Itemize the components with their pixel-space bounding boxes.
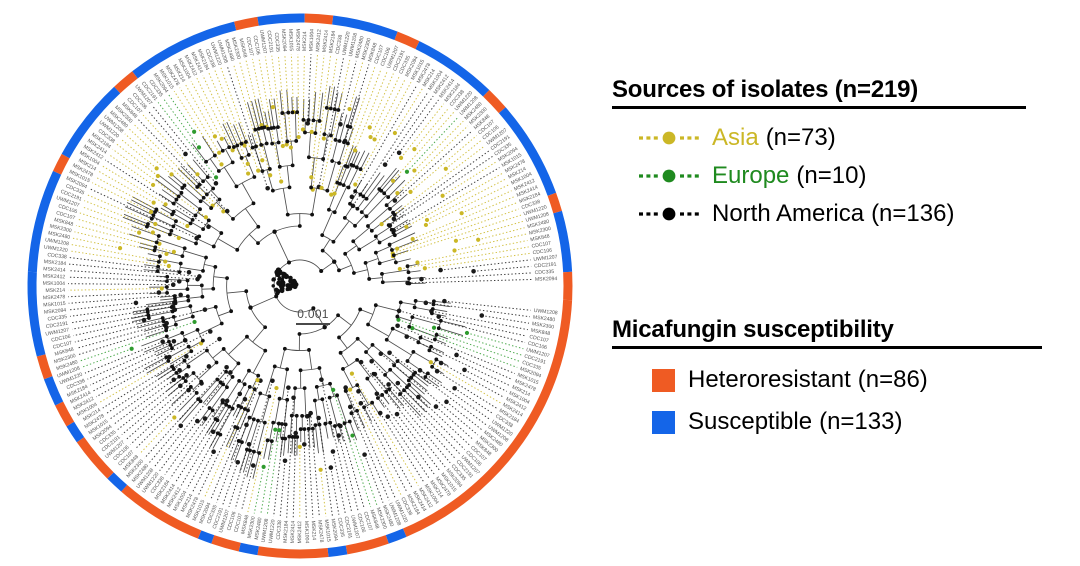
tip-leader-line bbox=[280, 461, 285, 517]
tree-branch bbox=[206, 384, 223, 405]
tip-node-north_america bbox=[435, 369, 440, 374]
internal-node bbox=[236, 361, 240, 365]
internal-node bbox=[170, 346, 174, 350]
tip-leader-line bbox=[143, 115, 197, 174]
internal-node bbox=[168, 232, 172, 236]
tip-node-asia bbox=[353, 182, 357, 186]
internal-node bbox=[258, 392, 262, 396]
internal-node bbox=[194, 242, 198, 246]
tip-node-north_america bbox=[251, 463, 256, 468]
tip-node-asia bbox=[217, 151, 221, 155]
tree-branch bbox=[380, 234, 395, 242]
internal-node bbox=[231, 407, 235, 411]
internal-node bbox=[247, 369, 251, 373]
tip-node-north_america bbox=[378, 411, 383, 416]
tree-branch bbox=[309, 157, 323, 159]
tree-branch bbox=[236, 146, 241, 158]
tree-branch bbox=[149, 221, 171, 231]
tip-node-north_america bbox=[379, 351, 384, 356]
tip-node-asia bbox=[163, 259, 167, 263]
internal-node bbox=[284, 423, 288, 427]
legend-susceptibility-label: Susceptible bbox=[688, 407, 812, 437]
tip-label: MSK2094 bbox=[535, 276, 558, 283]
internal-node bbox=[341, 367, 345, 371]
tip-leader-line bbox=[411, 136, 477, 192]
internal-node bbox=[272, 229, 276, 233]
tip-node-north_america bbox=[211, 429, 216, 434]
internal-node bbox=[323, 422, 327, 426]
legend-susceptibility-underline bbox=[612, 346, 1042, 349]
tree-branch bbox=[433, 309, 447, 312]
tree-branch bbox=[339, 309, 360, 337]
tip-node-asia bbox=[350, 372, 354, 376]
tip-leader-line bbox=[93, 332, 210, 391]
tree-branch bbox=[158, 239, 185, 248]
scale-bar: 0.001 bbox=[296, 308, 330, 325]
internal-node bbox=[265, 142, 269, 146]
tree-branch bbox=[175, 301, 188, 303]
tip-leader-line bbox=[99, 343, 201, 402]
tip-node-north_america bbox=[387, 350, 392, 355]
tip-node-north_america bbox=[393, 198, 398, 203]
internal-node bbox=[274, 270, 279, 275]
tree-branch bbox=[231, 441, 239, 460]
ring-segment-susceptible bbox=[333, 20, 396, 36]
internal-node bbox=[355, 383, 359, 387]
internal-node bbox=[211, 187, 215, 191]
tip-node-north_america bbox=[247, 442, 252, 447]
internal-node bbox=[170, 305, 174, 309]
tree-branch bbox=[227, 278, 231, 311]
tip-leader-line bbox=[114, 380, 174, 425]
internal-node bbox=[429, 345, 433, 349]
tip-leader-line bbox=[446, 141, 481, 169]
tip-leader-line bbox=[68, 289, 162, 291]
internal-node bbox=[419, 336, 423, 340]
internal-node bbox=[277, 422, 281, 426]
figure-root: UWM1208MSK2480MSK2300MSK848CDC107CDC106U… bbox=[0, 0, 1080, 566]
internal-node bbox=[407, 270, 411, 274]
tree-branch bbox=[198, 239, 214, 246]
tip-node-north_america bbox=[454, 353, 459, 358]
internal-node bbox=[187, 345, 191, 349]
internal-node bbox=[336, 313, 340, 317]
internal-node bbox=[410, 315, 414, 319]
tip-node-asia bbox=[393, 131, 397, 135]
tip-node-north_america bbox=[356, 389, 361, 394]
internal-node bbox=[156, 265, 160, 269]
internal-node bbox=[427, 348, 431, 352]
internal-node bbox=[392, 363, 396, 367]
tree-branch bbox=[309, 99, 310, 120]
internal-node bbox=[178, 270, 182, 274]
tip-leader-line bbox=[211, 381, 261, 500]
internal-node bbox=[366, 224, 370, 228]
tree-branch bbox=[396, 259, 411, 263]
tip-node-north_america bbox=[244, 423, 249, 428]
tree-branch bbox=[270, 423, 274, 441]
tree-branch bbox=[383, 281, 409, 282]
internal-node bbox=[311, 427, 315, 431]
internal-node bbox=[299, 368, 303, 372]
tip-node-north_america bbox=[404, 334, 409, 339]
tip-node-asia bbox=[319, 186, 323, 190]
internal-node bbox=[256, 225, 260, 229]
tip-node-north_america bbox=[350, 195, 355, 200]
tip-node-north_america bbox=[225, 399, 230, 404]
tree-branch bbox=[275, 399, 279, 423]
internal-node bbox=[172, 315, 176, 319]
internal-node bbox=[439, 319, 443, 323]
tree-branch bbox=[240, 450, 247, 472]
internal-node bbox=[384, 390, 388, 394]
tree-branch bbox=[309, 350, 312, 370]
tip-leader-line bbox=[72, 310, 175, 329]
internal-node bbox=[298, 332, 302, 336]
tree-branch bbox=[355, 215, 365, 226]
tip-node-asia bbox=[347, 107, 351, 111]
internal-node bbox=[329, 134, 333, 138]
tree-branch bbox=[398, 361, 415, 374]
legend-sources-title: Sources of isolates (n=219) bbox=[612, 76, 1064, 104]
tip-leader-line bbox=[427, 179, 506, 220]
tip-node-europe bbox=[130, 347, 134, 351]
tip-node-north_america bbox=[178, 384, 183, 389]
tip-node-north_america bbox=[184, 373, 189, 378]
internal-node bbox=[315, 385, 319, 389]
internal-node bbox=[267, 394, 271, 398]
internal-node bbox=[337, 423, 341, 427]
internal-node bbox=[186, 294, 190, 298]
tip-node-asia bbox=[220, 137, 224, 141]
tip-node-asia bbox=[118, 246, 122, 250]
tree-branch bbox=[291, 141, 292, 165]
tip-node-asia bbox=[160, 286, 164, 290]
internal-node bbox=[222, 347, 226, 351]
tip-node-asia bbox=[297, 135, 301, 139]
internal-node bbox=[199, 380, 203, 384]
tip-leader-line bbox=[121, 139, 157, 169]
internal-node bbox=[200, 295, 204, 299]
tree-branch bbox=[421, 338, 433, 343]
tip-node-asia bbox=[395, 247, 399, 251]
tree-nodes-layer bbox=[118, 105, 484, 472]
tip-node-north_america bbox=[183, 152, 188, 157]
internal-node bbox=[426, 371, 430, 375]
tree-branch bbox=[188, 297, 202, 299]
internal-node bbox=[388, 368, 392, 372]
internal-node bbox=[314, 423, 318, 427]
tip-leader-line bbox=[399, 311, 525, 343]
internal-node bbox=[437, 326, 441, 330]
tip-leader-line bbox=[417, 240, 527, 262]
tree-branch bbox=[233, 203, 254, 219]
tree-branch bbox=[218, 239, 237, 250]
tip-node-asia bbox=[391, 179, 395, 183]
tip-leader-line bbox=[370, 74, 394, 128]
tree-branch bbox=[268, 441, 271, 460]
internal-node bbox=[270, 439, 274, 443]
internal-node bbox=[266, 127, 270, 131]
tip-leader-line bbox=[426, 185, 509, 225]
legend-panel: Sources of isolates (n=219) Asia(n=73)Eu… bbox=[612, 0, 1080, 566]
internal-node bbox=[374, 251, 378, 255]
internal-node bbox=[244, 289, 248, 293]
tip-node-north_america bbox=[395, 323, 400, 328]
tree-branch bbox=[439, 328, 463, 335]
tip-node-north_america bbox=[383, 162, 388, 167]
internal-node bbox=[154, 208, 158, 212]
internal-node bbox=[219, 231, 223, 235]
internal-node bbox=[252, 175, 256, 179]
tip-node-north_america bbox=[207, 364, 212, 369]
tip-leader-line bbox=[401, 104, 444, 158]
internal-node bbox=[280, 111, 284, 115]
tip-node-asia bbox=[221, 209, 225, 213]
tip-node-north_america bbox=[157, 290, 162, 295]
tree-branch bbox=[366, 259, 379, 263]
tip-node-north_america bbox=[452, 386, 457, 391]
tree-branch bbox=[337, 395, 346, 422]
internal-node bbox=[348, 202, 352, 206]
internal-node bbox=[298, 224, 302, 228]
tip-leader-line bbox=[254, 467, 263, 514]
phylogenetic-tree-panel: UWM1208MSK2480MSK2300MSK848CDC107CDC106U… bbox=[0, 0, 600, 566]
tree-branch bbox=[343, 360, 357, 369]
tip-node-asia bbox=[268, 173, 272, 177]
tip-node-europe bbox=[465, 331, 469, 335]
internal-node bbox=[174, 371, 178, 375]
internal-node bbox=[388, 243, 392, 247]
internal-node bbox=[322, 132, 326, 136]
tree-branch bbox=[292, 437, 293, 454]
internal-node bbox=[407, 277, 411, 281]
tip-node-asia bbox=[172, 415, 176, 419]
tip-leader-line bbox=[331, 468, 339, 515]
tree-branch bbox=[394, 365, 410, 379]
tip-node-north_america bbox=[375, 391, 380, 396]
tree-branch bbox=[368, 208, 389, 226]
tree-branch bbox=[276, 424, 279, 442]
tip-leader-line bbox=[223, 462, 238, 504]
tree-branch bbox=[331, 110, 336, 136]
ring-segment-susceptible bbox=[558, 212, 568, 272]
internal-node bbox=[247, 153, 251, 157]
tree-branch bbox=[144, 265, 158, 267]
tip-node-north_america bbox=[442, 299, 447, 304]
tree-branch bbox=[273, 187, 290, 190]
internal-node bbox=[394, 261, 398, 265]
internal-node bbox=[348, 420, 352, 424]
tip-node-north_america bbox=[283, 458, 288, 463]
tree-branch bbox=[262, 396, 269, 422]
tip-leader-line bbox=[457, 355, 513, 380]
internal-node bbox=[225, 276, 229, 280]
internal-node bbox=[388, 207, 392, 211]
internal-node bbox=[272, 277, 276, 281]
internal-node bbox=[186, 287, 190, 291]
tree-branch bbox=[317, 387, 319, 400]
tip-node-asia bbox=[310, 130, 314, 134]
internal-node bbox=[240, 156, 244, 160]
tree-branch bbox=[321, 262, 334, 271]
internal-node bbox=[346, 165, 350, 169]
source-marker-asia-icon bbox=[638, 126, 700, 150]
tree-branch bbox=[247, 337, 265, 351]
tip-node-north_america bbox=[217, 337, 222, 342]
ring-segment-susceptible bbox=[111, 476, 125, 489]
internal-node bbox=[204, 160, 208, 164]
tip-node-asia bbox=[460, 211, 464, 215]
tree-branch bbox=[339, 337, 347, 348]
source-marker-north-america-icon bbox=[638, 202, 700, 226]
internal-node bbox=[153, 245, 157, 249]
internal-node bbox=[355, 165, 359, 169]
tip-node-asia bbox=[149, 210, 153, 214]
tip-leader-line bbox=[444, 301, 530, 310]
tree-branch bbox=[333, 221, 349, 242]
internal-node bbox=[337, 161, 341, 165]
tree-branch bbox=[251, 393, 260, 418]
tip-leader-line bbox=[478, 228, 524, 240]
tree-branch bbox=[319, 93, 322, 121]
tree-branch bbox=[294, 437, 295, 455]
tip-node-north_america bbox=[302, 442, 307, 447]
tree-branch bbox=[322, 211, 332, 235]
internal-node bbox=[266, 438, 270, 442]
internal-node bbox=[332, 259, 336, 263]
tip-leader-line bbox=[75, 310, 205, 342]
internal-node bbox=[248, 305, 252, 309]
ring-segment-susceptible bbox=[387, 533, 404, 540]
ring-segment-heteroresistant bbox=[59, 403, 70, 424]
internal-node bbox=[263, 421, 267, 425]
tip-node-europe bbox=[262, 465, 266, 469]
scale-bar-rule bbox=[296, 323, 330, 325]
tip-node-europe bbox=[405, 170, 409, 174]
internal-node bbox=[231, 217, 235, 221]
tip-leader-line bbox=[388, 417, 430, 479]
tree-branch bbox=[253, 327, 266, 342]
internal-node bbox=[378, 261, 382, 265]
tree-branch bbox=[237, 227, 258, 250]
tip-node-north_america bbox=[436, 314, 441, 319]
internal-node bbox=[370, 401, 374, 405]
tip-node-north_america bbox=[206, 225, 211, 230]
tip-node-asia bbox=[151, 183, 155, 187]
internal-node bbox=[166, 359, 170, 363]
tip-leader-line bbox=[340, 426, 364, 509]
internal-node bbox=[385, 203, 389, 207]
tree-branch bbox=[368, 324, 389, 336]
tip-leader-line bbox=[82, 207, 153, 233]
tip-leader-line bbox=[375, 79, 406, 139]
internal-node bbox=[213, 154, 217, 158]
internal-node bbox=[333, 210, 337, 214]
tree-branch bbox=[252, 134, 256, 147]
internal-node bbox=[349, 411, 353, 415]
tree-branch bbox=[236, 177, 254, 186]
tree-branch bbox=[338, 315, 351, 325]
tip-leader-line bbox=[474, 266, 532, 271]
color-swatch-heteroresistant bbox=[652, 369, 675, 392]
tip-label: MSK2412 bbox=[297, 521, 303, 544]
internal-node bbox=[327, 208, 331, 212]
tree-branch bbox=[315, 400, 318, 424]
tree-branch bbox=[376, 246, 391, 252]
tip-node-asia bbox=[137, 231, 141, 235]
internal-node bbox=[278, 397, 282, 401]
internal-node bbox=[370, 229, 374, 233]
tree-branch bbox=[376, 227, 390, 236]
internal-node bbox=[371, 343, 375, 347]
tree-branch bbox=[325, 424, 328, 439]
internal-node bbox=[202, 196, 206, 200]
internal-node bbox=[357, 248, 361, 252]
internal-node bbox=[310, 213, 314, 217]
tip-leader-line bbox=[455, 388, 494, 414]
tree-branch bbox=[345, 246, 356, 254]
internal-node bbox=[188, 304, 192, 308]
internal-node bbox=[325, 106, 329, 110]
tip-node-north_america bbox=[319, 377, 324, 382]
tree-branch bbox=[242, 371, 249, 383]
tree-branch bbox=[339, 265, 352, 270]
internal-node bbox=[199, 199, 203, 203]
tip-leader-line bbox=[394, 151, 489, 219]
legend-row-susceptibility-susceptible: Susceptible(n=133) bbox=[612, 401, 1064, 443]
internal-node bbox=[189, 349, 193, 353]
tree-branch bbox=[280, 165, 293, 166]
tip-leader-line bbox=[398, 383, 465, 449]
internal-node bbox=[411, 350, 415, 354]
tip-leader-line bbox=[117, 144, 158, 176]
internal-node bbox=[272, 284, 275, 287]
tip-node-north_america bbox=[184, 354, 189, 359]
internal-node bbox=[335, 393, 339, 397]
tip-label: MSK2478 bbox=[294, 29, 300, 52]
tree-branch bbox=[191, 222, 203, 229]
internal-node bbox=[164, 329, 168, 333]
internal-node bbox=[303, 386, 307, 390]
tip-leader-line bbox=[400, 247, 529, 269]
legend-sources-underline bbox=[612, 106, 1026, 109]
tip-node-north_america bbox=[286, 385, 291, 390]
tip-leader-line bbox=[240, 62, 270, 175]
internal-node bbox=[211, 287, 215, 291]
internal-node bbox=[318, 119, 322, 123]
tip-leader-line bbox=[163, 99, 199, 148]
internal-node bbox=[406, 264, 410, 268]
tip-leader-line bbox=[413, 197, 514, 239]
tip-node-north_america bbox=[203, 416, 208, 421]
internal-node bbox=[355, 358, 359, 362]
internal-node bbox=[353, 224, 357, 228]
tip-node-north_america bbox=[444, 400, 449, 405]
tip-label: MSK214 bbox=[302, 31, 308, 51]
internal-node bbox=[281, 436, 285, 440]
tip-node-asia bbox=[322, 136, 326, 140]
internal-node bbox=[205, 193, 209, 197]
tip-leader-line bbox=[394, 168, 500, 231]
tip-leader-line bbox=[125, 134, 172, 175]
internal-node bbox=[336, 108, 340, 112]
internal-node bbox=[292, 284, 297, 289]
tip-leader-line bbox=[333, 451, 345, 513]
internal-node bbox=[155, 241, 159, 245]
tip-node-asia bbox=[163, 202, 167, 206]
internal-node bbox=[346, 142, 350, 146]
